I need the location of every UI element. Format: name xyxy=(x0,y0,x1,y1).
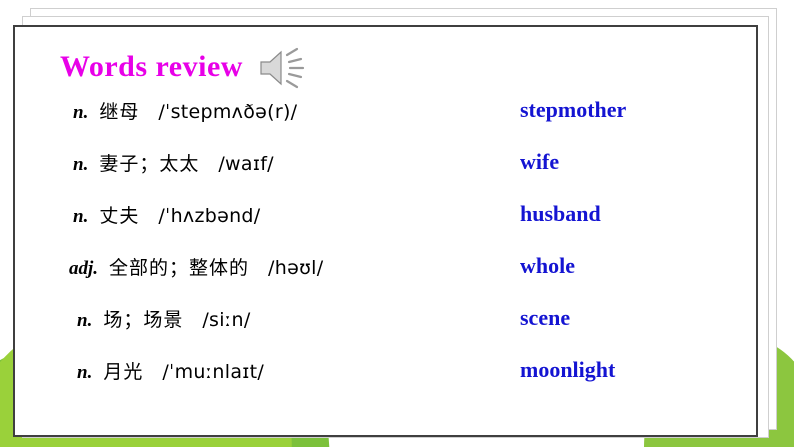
word-row: n. 丈夫 /ˈhʌzbənd/ husband xyxy=(15,201,756,253)
content-card: Words review n. 继母 /ˈstepmʌðə(r)/ xyxy=(13,25,758,437)
word-row: n. 继母 /ˈstepmʌðə(r)/ stepmother xyxy=(15,97,756,149)
word-chinese: 妻子；太太 xyxy=(99,153,199,175)
slide-root: Words review n. 继母 /ˈstepmʌðə(r)/ xyxy=(0,0,794,447)
word-phonetic: /ˈmuːnlaɪt/ xyxy=(162,361,264,383)
word-chinese: 月光 xyxy=(103,361,143,383)
word-chinese: 丈夫 xyxy=(99,205,139,227)
word-row: n. 场；场景 /siːn/ scene xyxy=(15,305,756,357)
title-row: Words review xyxy=(60,45,313,89)
word-chinese: 场；场景 xyxy=(103,309,183,331)
word-phonetic: /waɪf/ xyxy=(218,153,274,175)
word-chinese: 全部的；整体的 xyxy=(109,257,249,279)
word-phonetic: /ˈstepmʌðə(r)/ xyxy=(158,101,297,123)
word-row: adj. 全部的；整体的 /həʊl/ whole xyxy=(15,253,756,305)
word-chinese: 继母 xyxy=(99,101,139,123)
word-phonetic: /ˈhʌzbənd/ xyxy=(158,205,260,227)
word-part-of-speech: adj. xyxy=(69,258,98,279)
word-part-of-speech: n. xyxy=(73,206,88,227)
word-phonetic: /həʊl/ xyxy=(268,257,323,279)
word-english: wife xyxy=(520,149,559,175)
word-part-of-speech: n. xyxy=(77,310,92,331)
word-part-of-speech: n. xyxy=(73,102,88,123)
word-english: whole xyxy=(520,253,575,279)
word-english: moonlight xyxy=(520,357,615,383)
word-row: n. 妻子；太太 /waɪf/ wife xyxy=(15,149,756,201)
page-title: Words review xyxy=(60,50,243,84)
speaker-icon[interactable] xyxy=(257,47,313,89)
word-english: scene xyxy=(520,305,570,331)
word-phonetic: /siːn/ xyxy=(202,309,250,331)
word-list: n. 继母 /ˈstepmʌðə(r)/ stepmother n. 妻子；太太… xyxy=(15,97,756,409)
word-part-of-speech: n. xyxy=(73,154,88,175)
word-part-of-speech: n. xyxy=(77,362,92,383)
word-row: n. 月光 /ˈmuːnlaɪt/ moonlight xyxy=(15,357,756,409)
word-english: stepmother xyxy=(520,97,626,123)
word-english: husband xyxy=(520,201,601,227)
